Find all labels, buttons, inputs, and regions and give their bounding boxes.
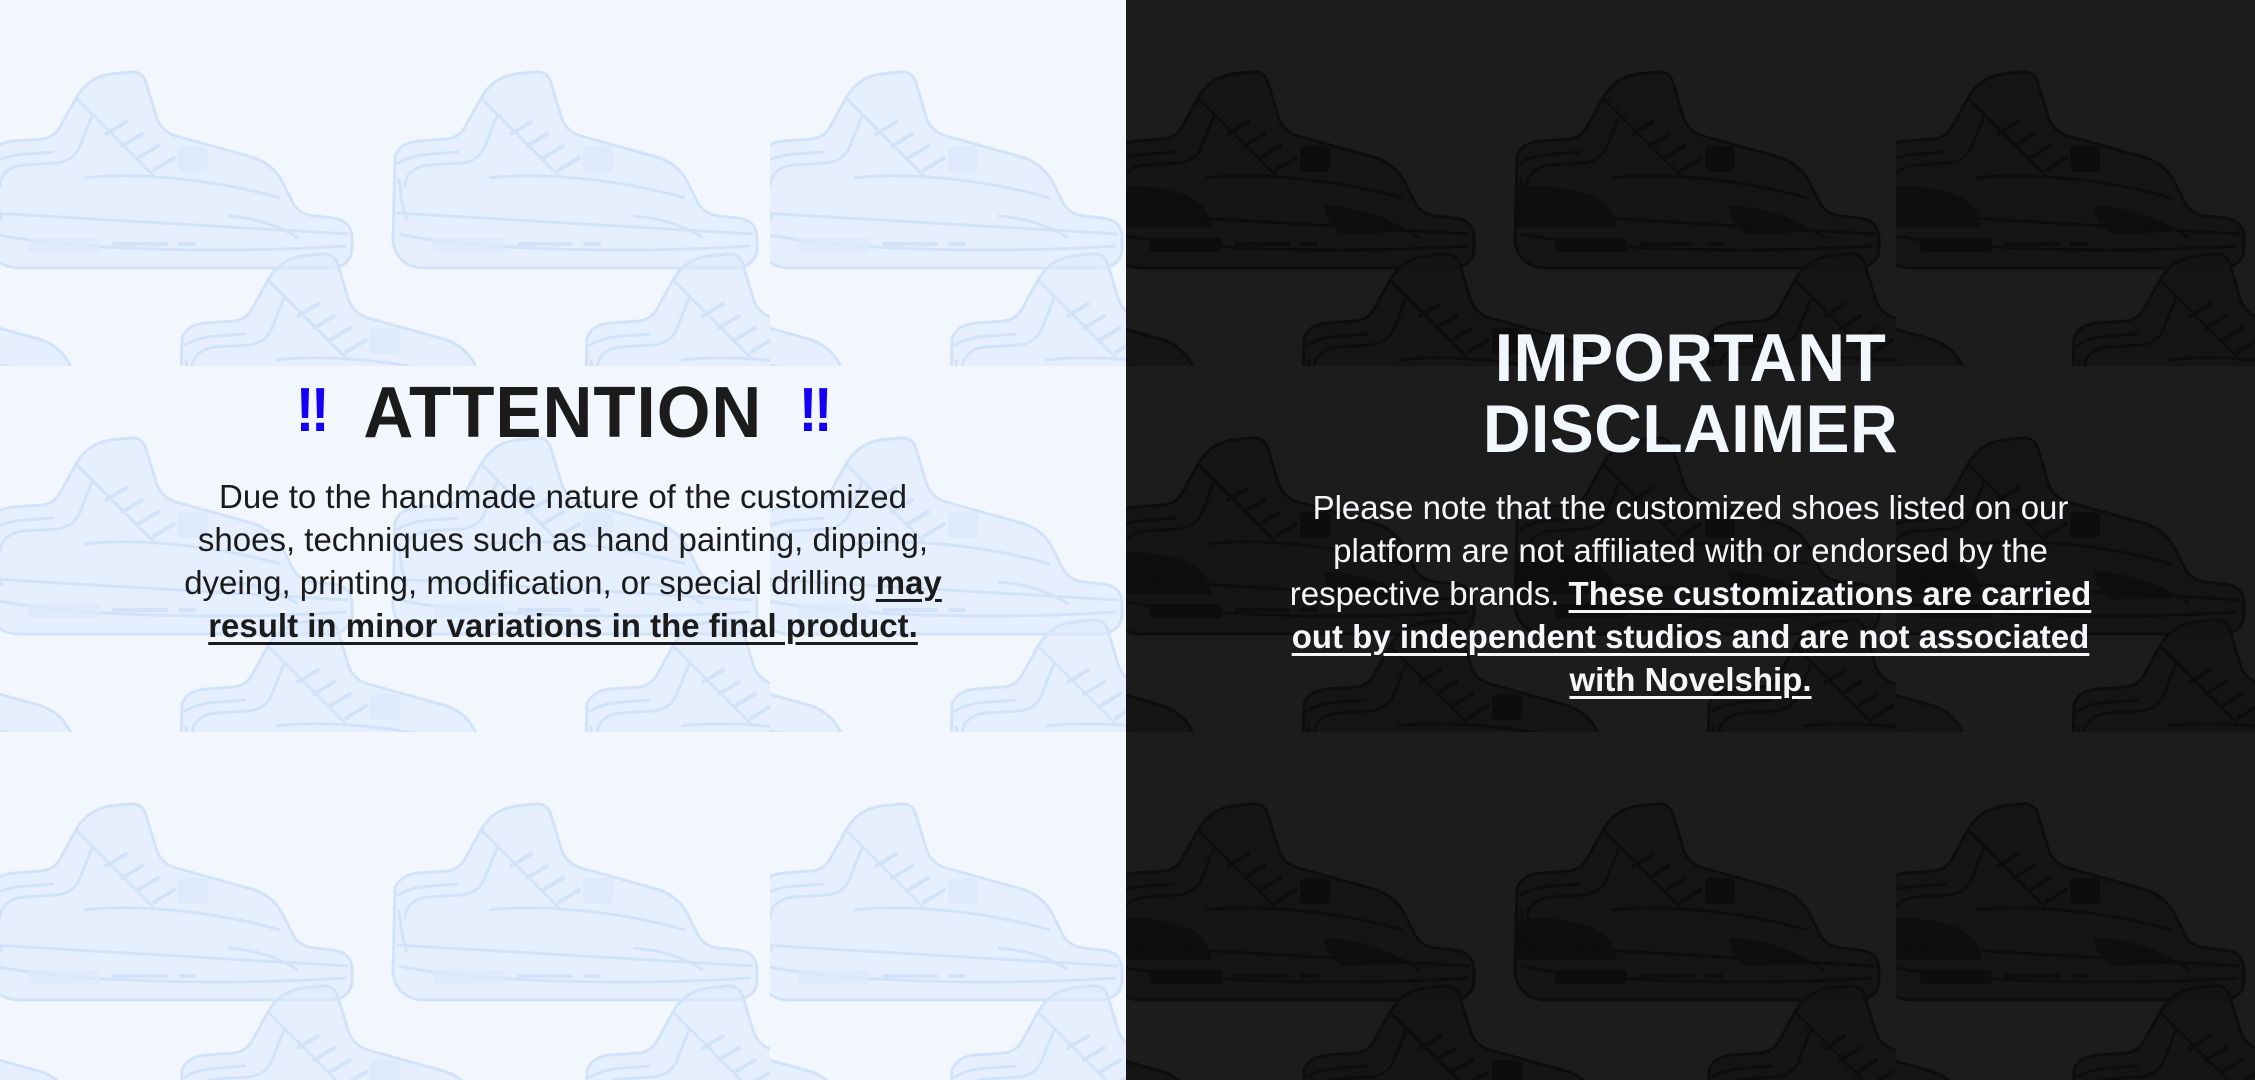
disclaimer-heading-line2: DISCLAIMER [1143, 394, 2238, 465]
attention-body: Due to the handmade nature of the custom… [168, 475, 958, 647]
attention-body-normal: Due to the handmade nature of the custom… [184, 478, 928, 601]
disclaimer-banner: ‼ ATTENTION ‼ Due to the handmade nature… [0, 0, 2255, 1080]
double-exclamation-icon-right: ‼ [799, 380, 831, 442]
attention-heading: ‼ ATTENTION ‼ [0, 377, 1126, 449]
disclaimer-heading-line1: IMPORTANT [1143, 323, 2238, 394]
disclaimer-panel: IMPORTANT DISCLAIMER Please note that th… [1126, 0, 2255, 1080]
attention-panel: ‼ ATTENTION ‼ Due to the handmade nature… [0, 0, 1126, 1080]
disclaimer-body: Please note that the customized shoes li… [1285, 486, 2097, 701]
double-exclamation-icon-left: ‼ [296, 380, 328, 442]
disclaimer-heading: IMPORTANT DISCLAIMER [1143, 323, 2238, 464]
attention-heading-text: ATTENTION [364, 377, 763, 449]
disclaimer-content: IMPORTANT DISCLAIMER Please note that th… [1126, 323, 2255, 757]
attention-content: ‼ ATTENTION ‼ Due to the handmade nature… [0, 377, 1126, 703]
